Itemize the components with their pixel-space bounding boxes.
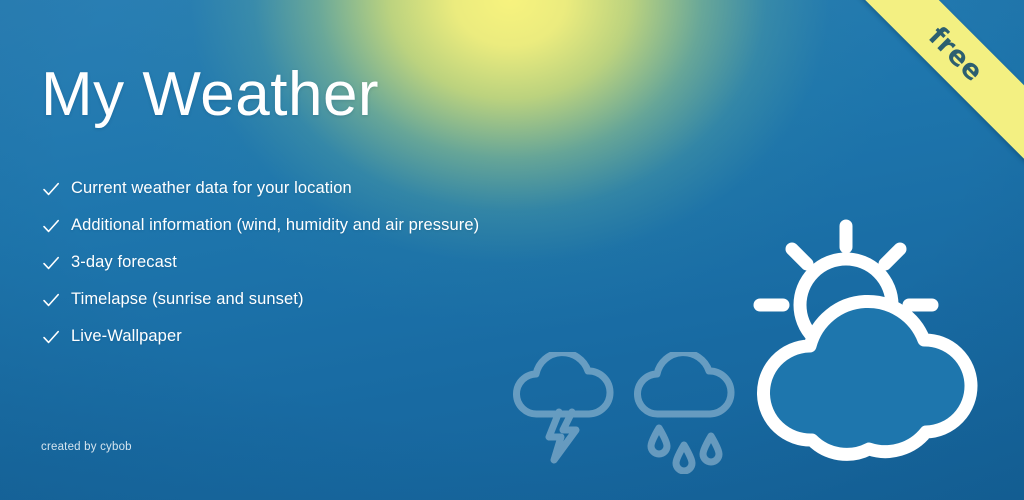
rain-cloud-icon (626, 352, 742, 474)
check-icon (41, 179, 61, 199)
thunderstorm-cloud-icon (504, 352, 622, 476)
check-icon (41, 253, 61, 273)
list-item: Additional information (wind, humidity a… (41, 213, 479, 238)
check-icon (41, 216, 61, 236)
page-title: My Weather (41, 64, 379, 126)
feature-label: Additional information (wind, humidity a… (71, 216, 479, 235)
check-icon (41, 327, 61, 347)
list-item: Timelapse (sunrise and sunset) (41, 287, 479, 312)
check-icon (41, 290, 61, 310)
feature-label: Timelapse (sunrise and sunset) (71, 290, 304, 309)
feature-list: Current weather data for your location A… (41, 176, 479, 349)
list-item: Current weather data for your location (41, 176, 479, 201)
feature-label: Current weather data for your location (71, 179, 352, 198)
list-item: Live-Wallpaper (41, 324, 479, 349)
promo-banner: free My Weather Current weather data for… (0, 0, 1024, 500)
sun-behind-cloud-icon (742, 218, 994, 470)
feature-label: Live-Wallpaper (71, 327, 182, 346)
feature-label: 3-day forecast (71, 253, 177, 272)
list-item: 3-day forecast (41, 250, 479, 275)
credit-text: created by cybob (41, 441, 132, 453)
